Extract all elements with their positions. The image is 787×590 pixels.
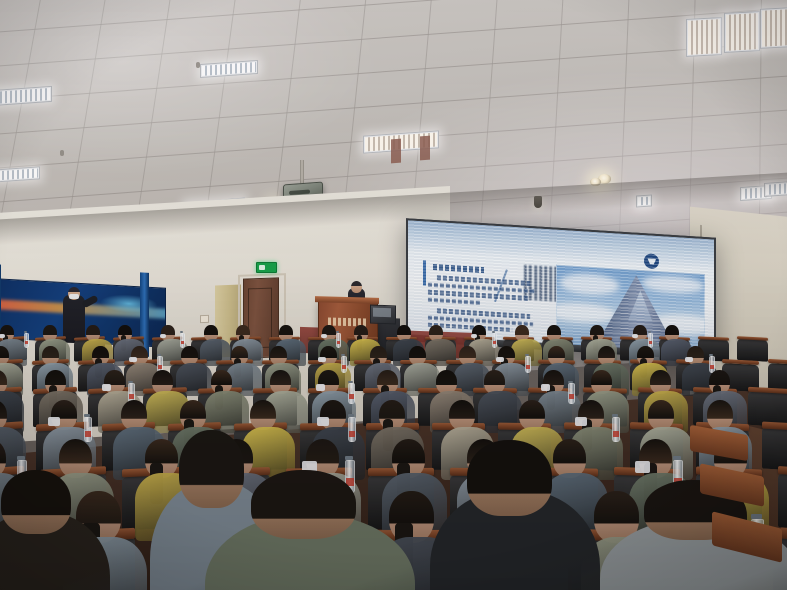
bottle-cap <box>345 456 353 460</box>
ceiling-troffer-light-icon <box>686 17 722 57</box>
water-bottle[interactable] <box>492 333 497 347</box>
audience-head <box>519 400 545 430</box>
ceiling-grid-line <box>0 5 787 85</box>
audience-head <box>121 400 147 430</box>
bottle-cap <box>673 456 681 460</box>
ceiling-grid-line <box>0 0 787 51</box>
auditorium-seat[interactable] <box>737 339 768 363</box>
bottle-cap <box>128 381 133 383</box>
face-mask-icon <box>496 357 504 363</box>
ceiling-troffer-light-icon <box>724 11 760 53</box>
face-mask-icon <box>575 417 587 426</box>
water-bottle[interactable] <box>568 383 575 404</box>
slide-section-title <box>433 263 484 273</box>
audience-head <box>648 400 674 430</box>
presenter-laptop <box>370 305 396 325</box>
ceiling-troffer-light-icon <box>636 194 652 207</box>
auditorium-seat[interactable] <box>778 473 787 530</box>
ceiling-troffer-light-icon <box>420 136 430 161</box>
water-bottle[interactable] <box>180 333 185 347</box>
ceiling-pendant-light-icon <box>534 196 542 208</box>
cloud-shape <box>642 274 704 295</box>
bank-logo-mark-icon <box>644 253 659 269</box>
face-mask-icon <box>129 357 137 363</box>
exit-sign-icon <box>256 262 277 273</box>
face-mask-icon <box>317 417 329 426</box>
bottle-cap <box>612 414 619 417</box>
sprinkler-head-icon <box>60 150 64 156</box>
face-mask-icon <box>69 294 79 299</box>
face-mask-icon <box>48 417 60 426</box>
foreground-attendee-head <box>179 430 244 508</box>
slide-title-rule <box>423 260 426 285</box>
face-mask-icon <box>321 334 327 339</box>
audience-head <box>59 439 93 478</box>
ceiling-troffer-light-icon <box>760 7 787 49</box>
auditorium-seat[interactable] <box>762 427 787 472</box>
water-bottle[interactable] <box>84 417 93 443</box>
face-mask-icon <box>318 357 326 363</box>
audience-head <box>707 400 733 430</box>
face-mask-icon <box>541 384 550 391</box>
water-bottle[interactable] <box>525 356 531 373</box>
bottle-cap <box>17 456 25 460</box>
face-mask-icon <box>635 461 650 473</box>
foreground-attendee-head <box>467 440 552 516</box>
slide-body-line <box>428 297 481 305</box>
water-bottle[interactable] <box>341 356 347 373</box>
sprinkler-head-icon <box>196 62 200 68</box>
face-mask-icon <box>102 384 111 391</box>
foreground-attendee-head <box>251 470 356 539</box>
ceiling-grid-line <box>0 39 787 119</box>
cloud-shape <box>560 272 619 296</box>
face-mask-icon <box>316 384 325 391</box>
face-mask-icon <box>685 357 693 363</box>
bottle-cap <box>348 381 353 383</box>
audience-head <box>250 400 276 430</box>
bottle-cap <box>751 514 762 519</box>
cloud-shape <box>556 301 616 324</box>
wall-outlet-icon <box>200 315 209 323</box>
bottle-cap <box>348 414 355 417</box>
water-bottle[interactable] <box>648 333 653 347</box>
presenter-head <box>351 281 362 293</box>
audience-head <box>449 400 475 430</box>
face-mask-icon <box>632 334 638 339</box>
water-bottle[interactable] <box>336 333 341 347</box>
face-mask-icon <box>160 334 166 339</box>
audience-head <box>553 439 587 478</box>
ceiling-troffer-light-icon <box>764 181 787 197</box>
foreground-attendee-head <box>1 470 71 534</box>
face-mask-icon <box>471 334 477 339</box>
bottle-cap <box>84 414 91 417</box>
conference-hall-photo: Masked audience seated in a tiered confe… <box>0 0 787 590</box>
water-bottle[interactable] <box>24 333 29 347</box>
face-mask-icon <box>0 334 5 339</box>
water-bottle[interactable] <box>612 417 621 443</box>
water-bottle[interactable] <box>348 383 355 404</box>
ceiling-troffer-light-icon <box>391 139 401 164</box>
bottle-cap <box>568 381 573 383</box>
building-atrium <box>628 290 653 323</box>
water-bottle[interactable] <box>348 417 357 443</box>
